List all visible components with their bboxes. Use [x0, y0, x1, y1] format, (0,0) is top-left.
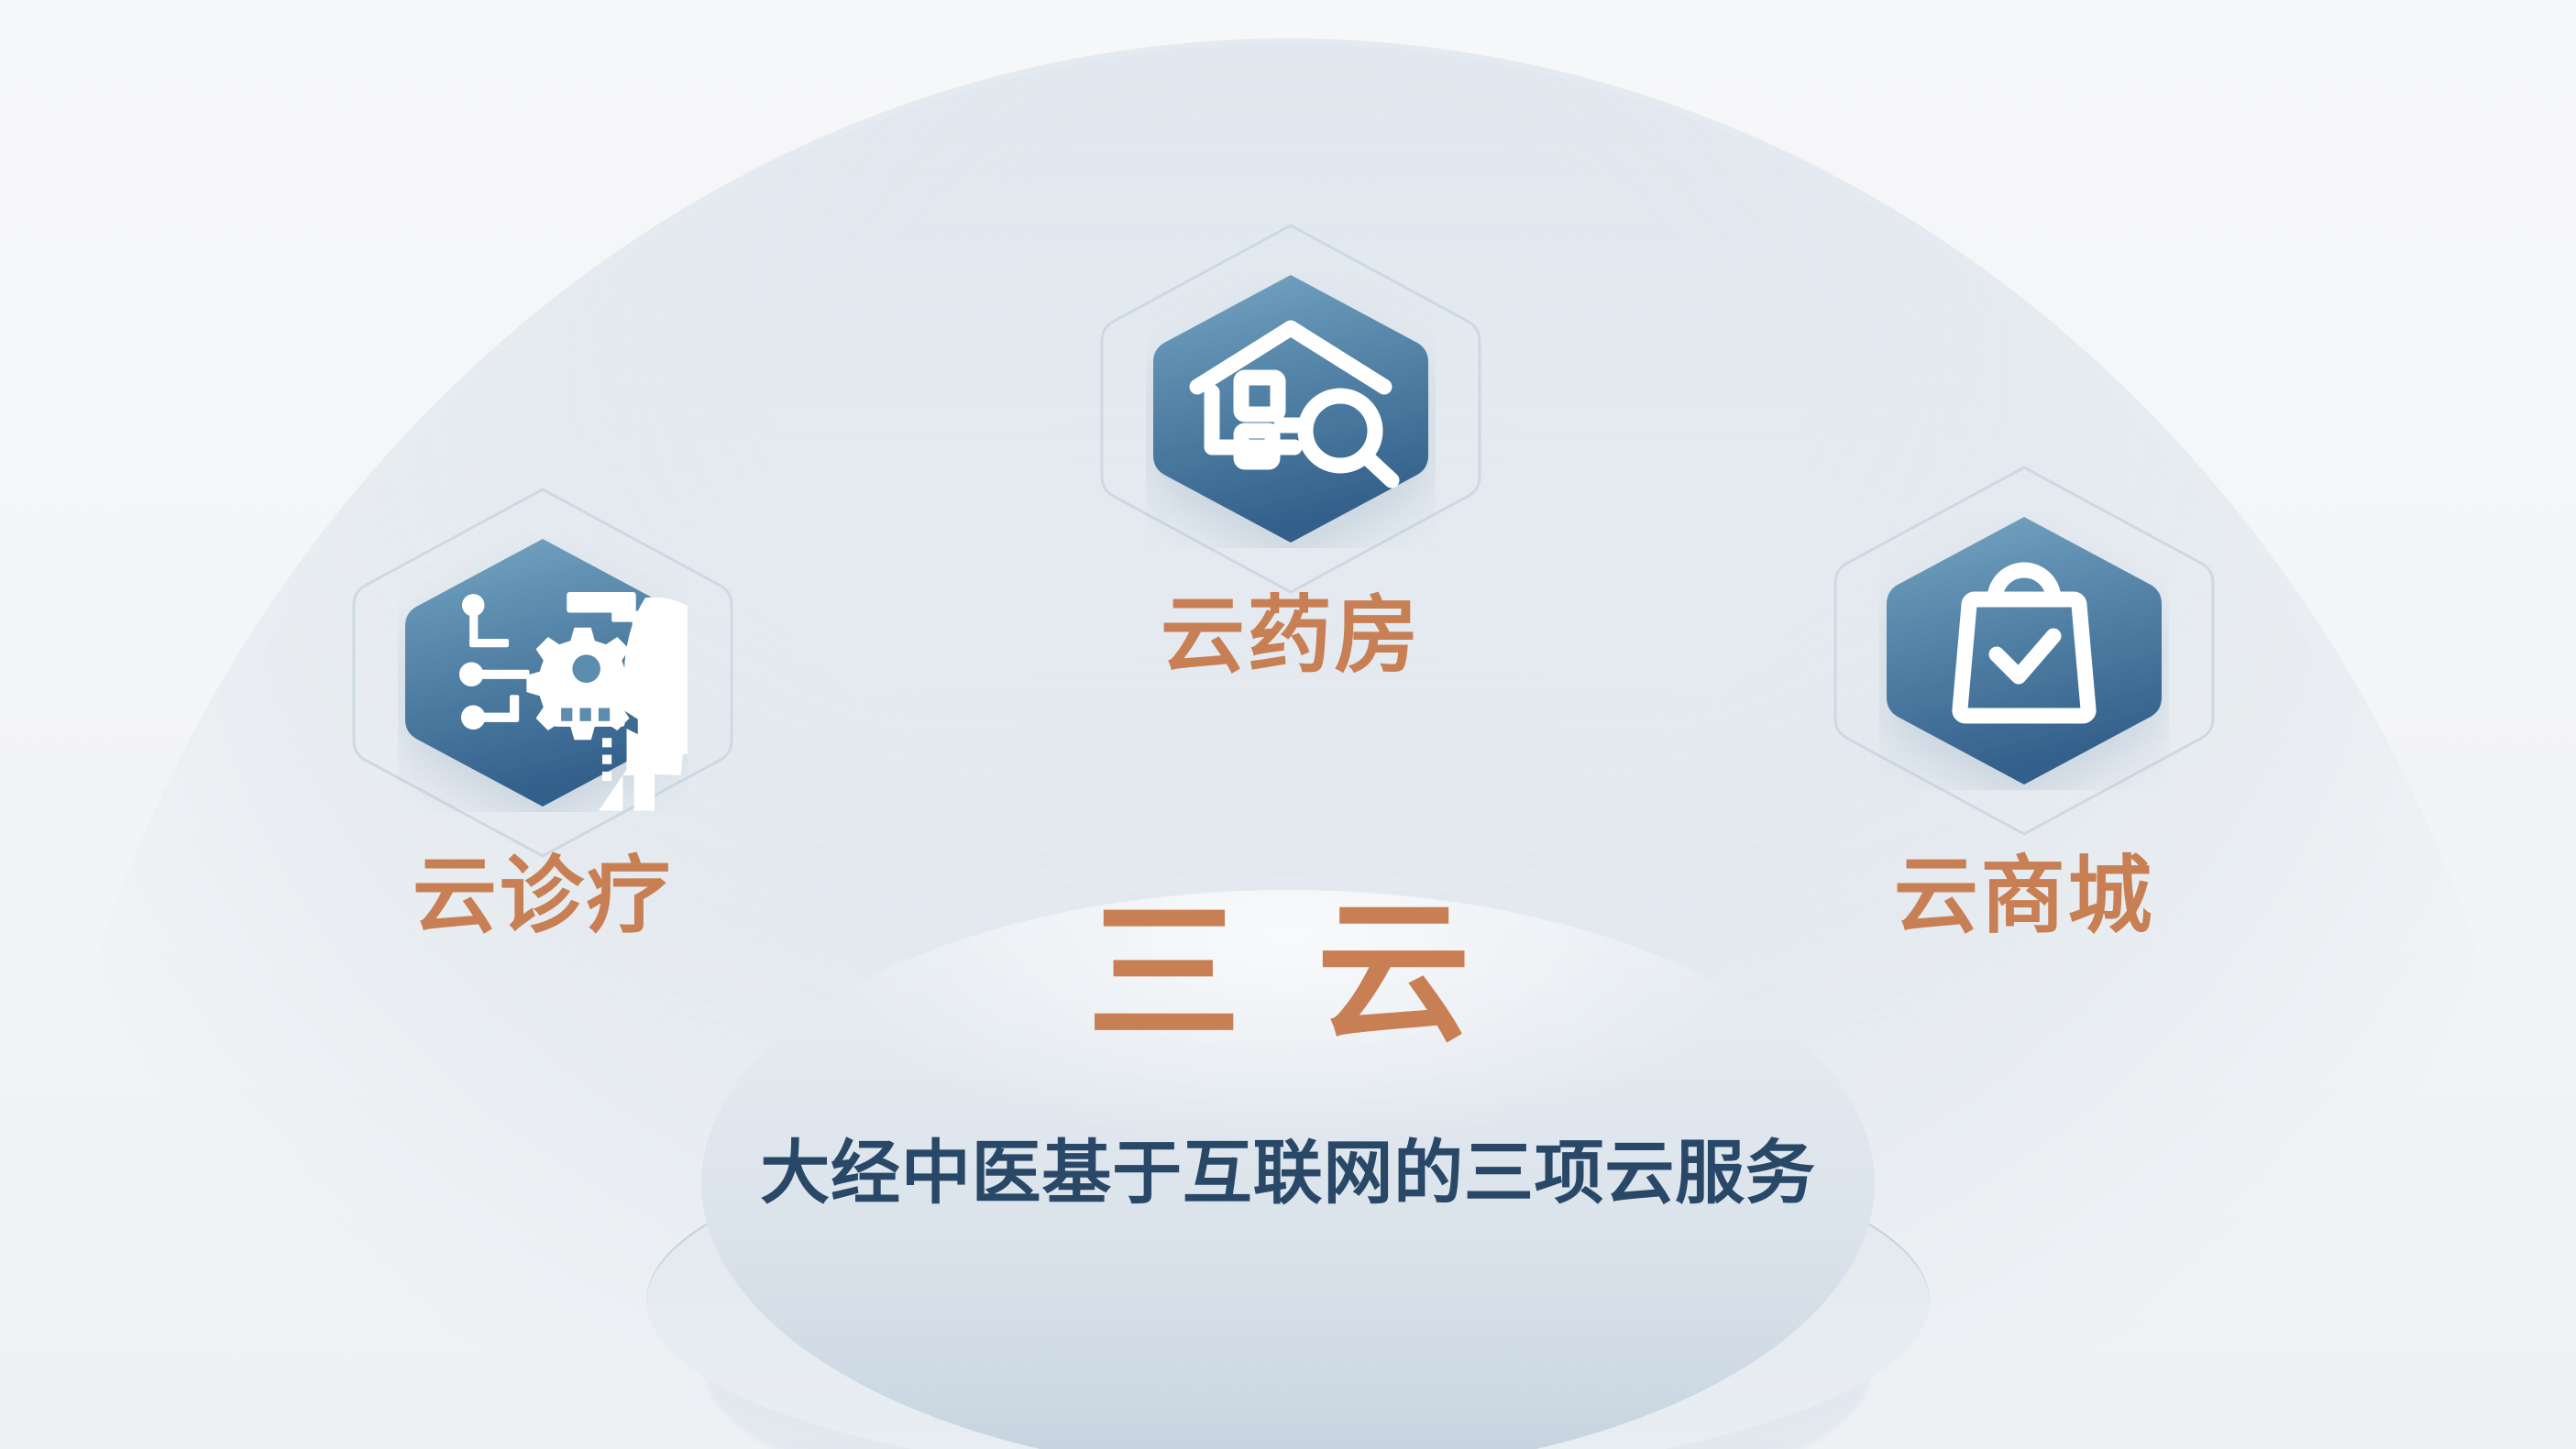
brand-title: 三 云 [1087, 898, 1489, 1052]
hexagon-tile[interactable] [1879, 511, 2169, 790]
node-label-cloud-diagnosis: 云诊疗 [341, 854, 744, 939]
node-cloud-mall[interactable] [1822, 458, 2226, 843]
node-cloud-pharmacy[interactable] [1089, 216, 1492, 601]
node-label-cloud-mall: 云商城 [1822, 854, 2226, 939]
hexagon-tile[interactable] [1146, 269, 1436, 548]
node-label-cloud-pharmacy: 云药房 [1089, 594, 1492, 678]
node-cloud-diagnosis[interactable] [341, 480, 744, 865]
pedestal-outer-ring [706, 1213, 1870, 1449]
brand-subtitle: 大经中医基于互联网的三项云服务 [760, 1139, 1815, 1209]
hexagon-tile[interactable] [398, 533, 688, 812]
slide-canvas: 三 云 大经中医基于互联网的三项云服务 [0, 0, 2576, 1449]
